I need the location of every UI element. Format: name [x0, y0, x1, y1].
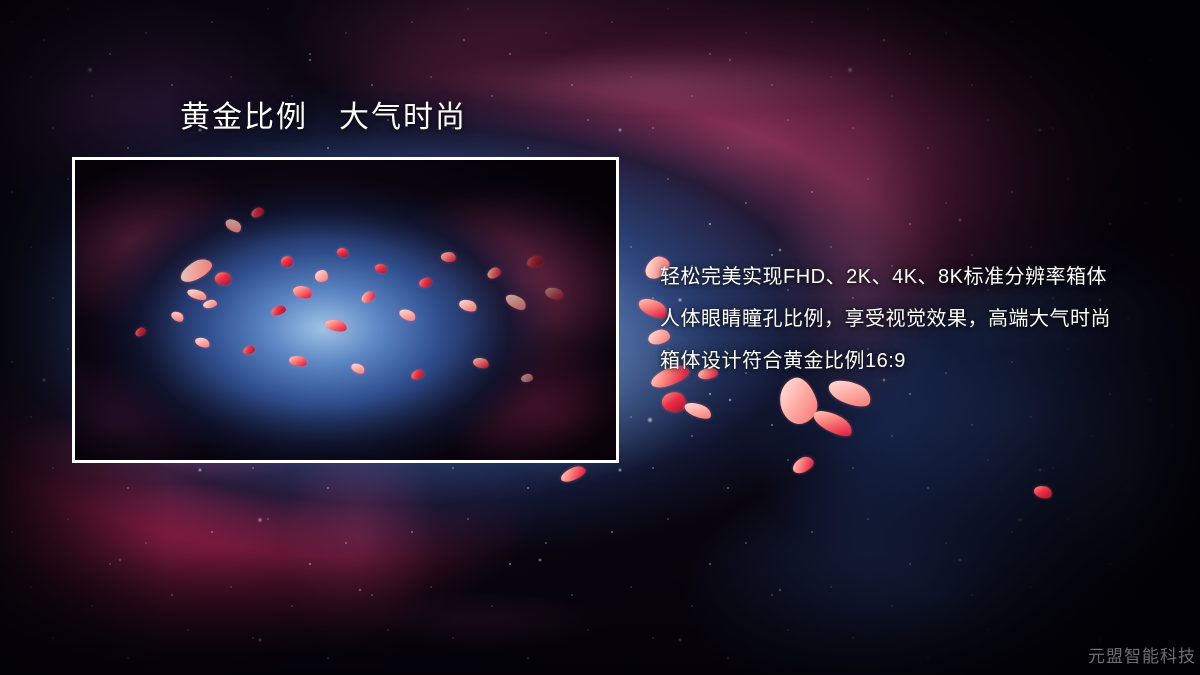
framed-preview-image [72, 157, 619, 463]
page-title: 黄金比例 大气时尚 [180, 101, 467, 136]
body-line-1: 轻松完美实现FHD、2K、4K、8K标准分辨率箱体 [660, 256, 1180, 298]
slide-canvas: 黄金比例 大气时尚 轻松完美实现FHD、2K、4K、8K标准分辨率箱体 人体眼睛… [0, 0, 1200, 675]
watermark-label: 元盟智能科技 [1088, 642, 1196, 667]
body-line-2: 人体眼睛瞳孔比例，享受视觉效果，高端大气时尚 [660, 298, 1180, 340]
body-line-3: 箱体设计符合黄金比例16:9 [660, 340, 1180, 382]
preview-vignette [75, 160, 616, 460]
body-copy-block: 轻松完美实现FHD、2K、4K、8K标准分辨率箱体 人体眼睛瞳孔比例，享受视觉效… [660, 256, 1180, 382]
